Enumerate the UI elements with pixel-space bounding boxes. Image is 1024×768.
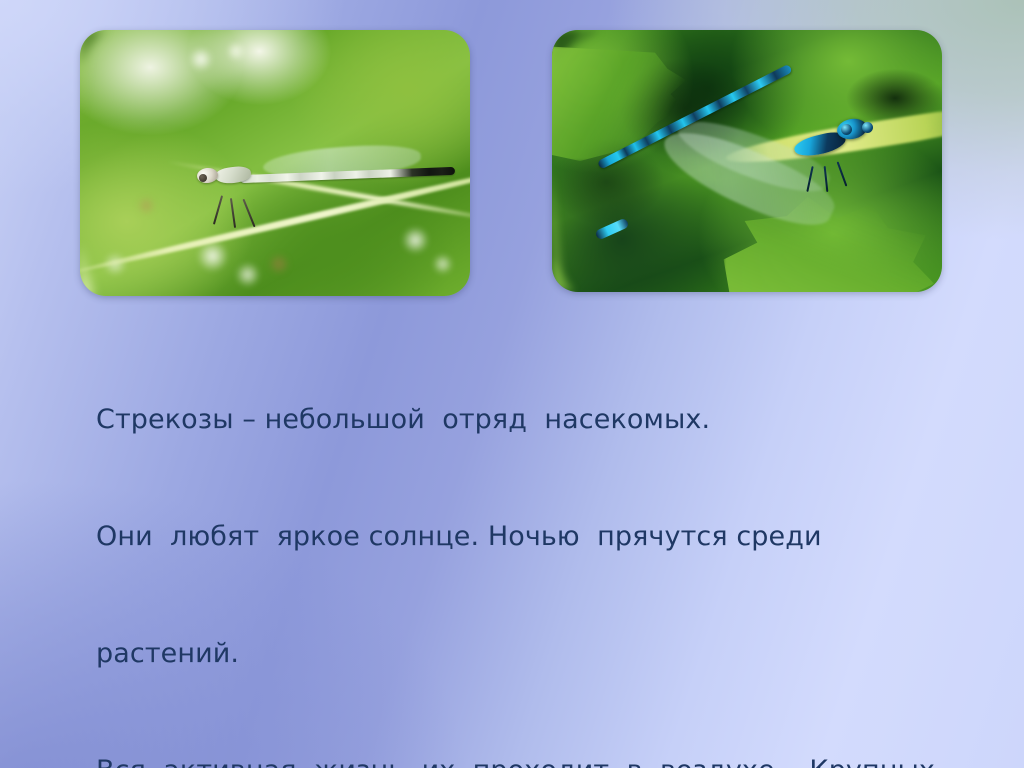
photo-blue-damselfly-on-leaf bbox=[552, 30, 942, 292]
damselfly-eye bbox=[862, 122, 873, 133]
body-line-4: Вся активная жизнь их проходит в воздухе… bbox=[96, 751, 956, 768]
photo-pale-damselfly-on-grass bbox=[80, 30, 470, 296]
damselfly-eye bbox=[841, 124, 852, 135]
slide-body-text: Стрекозы – небольшой отряд насекомых. Он… bbox=[96, 322, 956, 768]
damselfly-eye bbox=[199, 174, 207, 182]
presentation-slide: Стрекозы – небольшой отряд насекомых. Он… bbox=[0, 0, 1024, 768]
body-line-3: растений. bbox=[96, 634, 956, 673]
body-line-1: Стрекозы – небольшой отряд насекомых. bbox=[96, 400, 956, 439]
body-line-2: Они любят яркое солнце. Ночью прячутся с… bbox=[96, 517, 956, 556]
